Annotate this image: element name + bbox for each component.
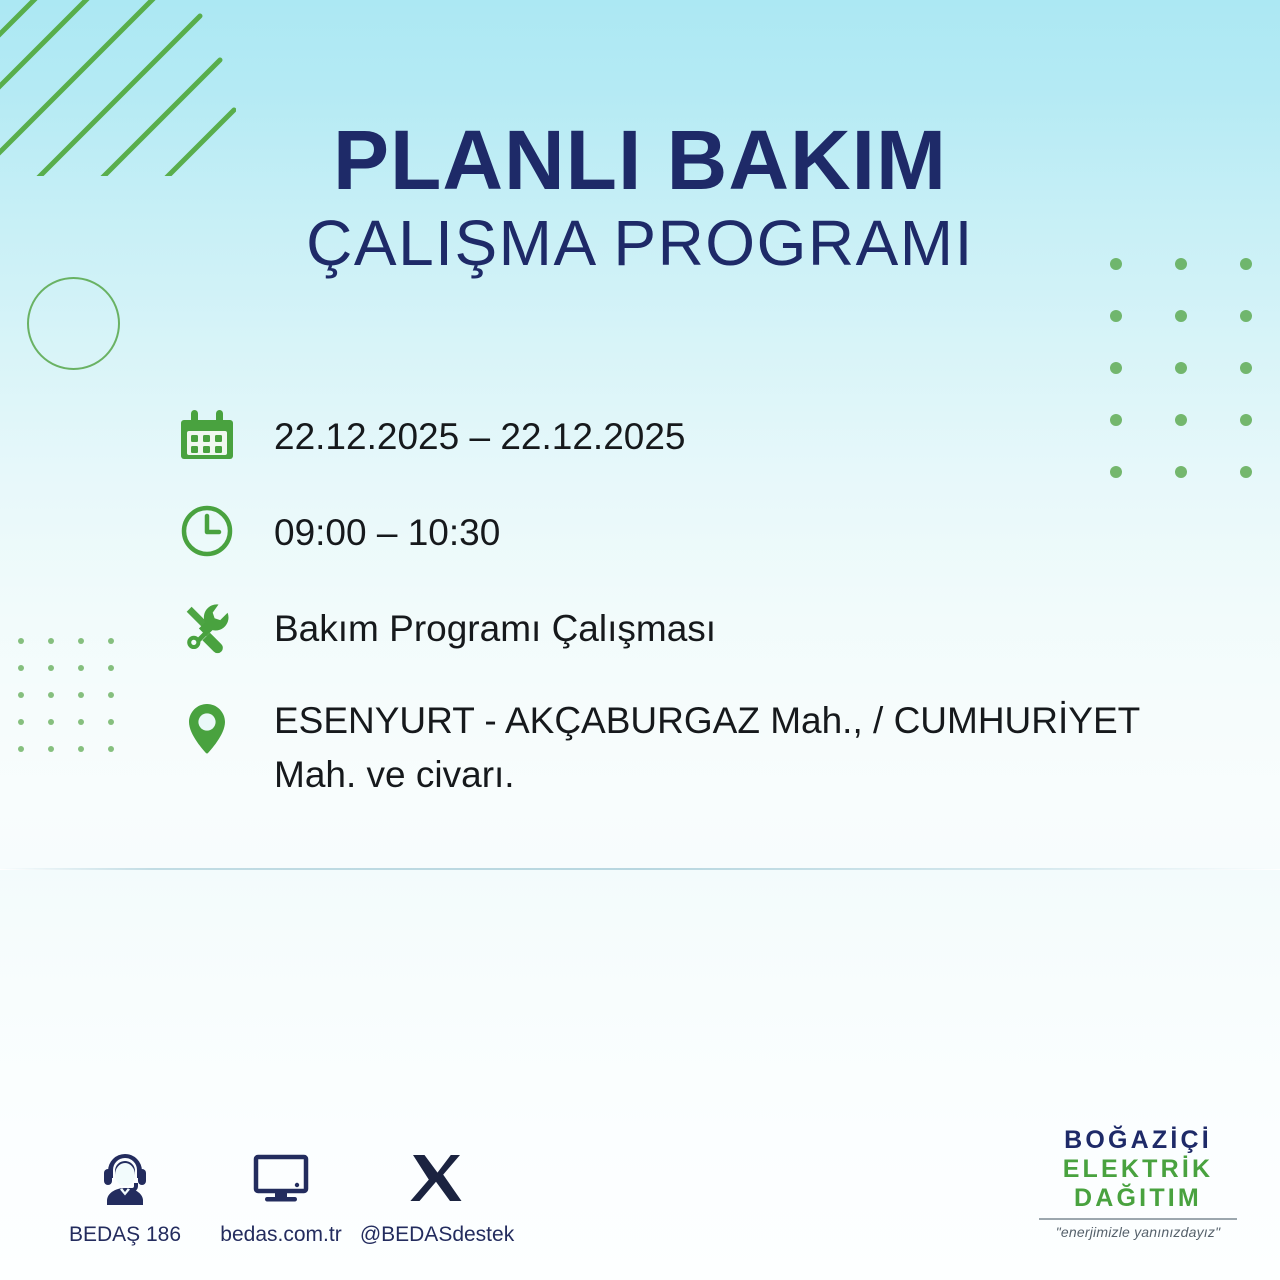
outage-details-block: 22.12.2025 – 22.12.2025 09:00 – 10:30 — [176, 404, 1196, 802]
time-range-text: 09:00 – 10:30 — [274, 500, 500, 560]
tools-icon — [176, 596, 238, 658]
planli-bakim-poster: PLANLI BAKIM ÇALIŞMA PROGRAMI — [0, 0, 1280, 1280]
detail-row-location: ESENYURT - AKÇABURGAZ Mah., / CUMHURİYET… — [176, 692, 1196, 802]
detail-row-time: 09:00 – 10:30 — [176, 500, 1196, 562]
detail-row-work-type: Bakım Programı Çalışması — [176, 596, 1196, 658]
contact-label-phone: BEDAŞ 186 — [69, 1223, 181, 1247]
headset-support-icon — [94, 1145, 156, 1211]
brand-tagline: "enerjimizle yanınızdayız" — [1032, 1224, 1244, 1240]
location-pin-icon — [176, 692, 238, 760]
contact-item-phone[interactable]: BEDAŞ 186 — [50, 1145, 200, 1247]
contact-item-social[interactable]: @BEDASdestek — [362, 1145, 512, 1247]
clock-icon — [176, 500, 238, 562]
affected-area-text: ESENYURT - AKÇABURGAZ Mah., / CUMHURİYET… — [274, 692, 1164, 802]
diagonal-stripes-decoration — [0, 0, 236, 176]
dot-grid-left-decoration — [18, 638, 138, 773]
brand-line-bogazici: BOĞAZİÇİ — [1032, 1126, 1244, 1155]
calendar-icon — [176, 404, 238, 466]
monitor-website-icon — [250, 1145, 312, 1211]
work-type-text: Bakım Programı Çalışması — [274, 596, 716, 656]
contact-label-website: bedas.com.tr — [220, 1223, 341, 1247]
brand-logo: BOĞAZİÇİ ELEKTRİK DAĞITIM "enerjimizle y… — [1032, 1126, 1244, 1240]
brand-line-elektrik: ELEKTRİK — [1032, 1155, 1244, 1184]
brand-line-dagitim: DAĞITIM — [1032, 1184, 1244, 1213]
footer-contacts: BEDAŞ 186 bedas.com.tr — [50, 1145, 512, 1247]
brand-divider — [1039, 1218, 1237, 1220]
contact-item-website[interactable]: bedas.com.tr — [206, 1145, 356, 1247]
circle-outline-decoration — [27, 277, 120, 370]
date-range-text: 22.12.2025 – 22.12.2025 — [274, 404, 686, 464]
x-social-icon — [408, 1145, 466, 1211]
contact-label-social: @BEDASdestek — [360, 1223, 514, 1247]
detail-row-date: 22.12.2025 – 22.12.2025 — [176, 404, 1196, 466]
